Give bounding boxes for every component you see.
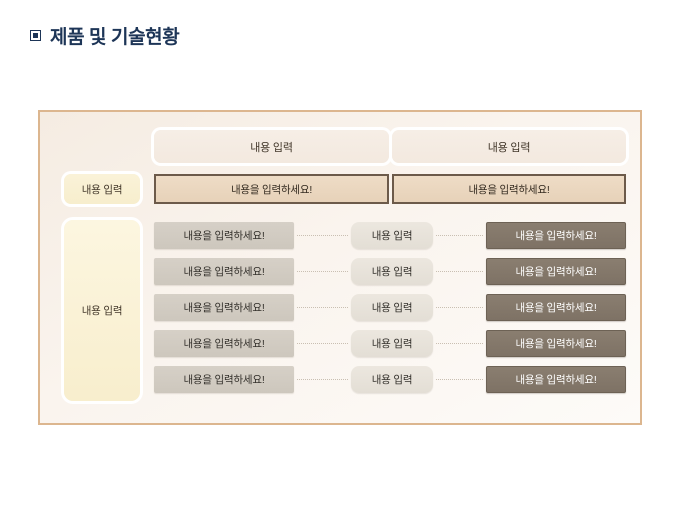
matrix-cell-col2[interactable]: 내용 입력 (351, 366, 433, 393)
matrix-row: 내용을 입력하세요! 내용 입력 내용을 입력하세요! (154, 330, 626, 357)
matrix-row: 내용을 입력하세요! 내용 입력 내용을 입력하세요! (154, 294, 626, 321)
matrix-cell-col2[interactable]: 내용 입력 (351, 222, 433, 249)
matrix-cell-col1[interactable]: 내용을 입력하세요! (154, 222, 294, 249)
matrix-cell-col3[interactable]: 내용을 입력하세요! (486, 258, 626, 285)
filled-square-bullet-icon (30, 30, 41, 41)
connector-line-2 (436, 235, 483, 236)
connector-line-1 (297, 307, 348, 308)
emphasis-box-right[interactable]: 내용을 입력하세요! (392, 174, 626, 204)
side-category-label[interactable]: 내용 입력 (64, 220, 140, 401)
matrix-cell-col1[interactable]: 내용을 입력하세요! (154, 294, 294, 321)
matrix-cell-col1[interactable]: 내용을 입력하세요! (154, 330, 294, 357)
connector-line-1 (297, 235, 348, 236)
matrix-cell-col2[interactable]: 내용 입력 (351, 330, 433, 357)
connector-line-1 (297, 379, 348, 380)
connector-line-2 (436, 271, 483, 272)
page-title-text: 제품 및 기술현황 (50, 22, 179, 49)
emphasis-row-label[interactable]: 내용 입력 (64, 174, 140, 204)
matrix-cell-col2[interactable]: 내용 입력 (351, 294, 433, 321)
matrix-row: 내용을 입력하세요! 내용 입력 내용을 입력하세요! (154, 222, 626, 249)
connector-line-2 (436, 343, 483, 344)
header-box-left[interactable]: 내용 입력 (154, 130, 389, 163)
diagram-frame: 내용 입력 내용 입력 내용 입력 내용을 입력하세요! 내용을 입력하세요! … (38, 110, 642, 425)
matrix-cell-col3[interactable]: 내용을 입력하세요! (486, 222, 626, 249)
matrix-cell-col1[interactable]: 내용을 입력하세요! (154, 366, 294, 393)
matrix-row: 내용을 입력하세요! 내용 입력 내용을 입력하세요! (154, 258, 626, 285)
page-title: 제품 및 기술현황 (30, 22, 179, 49)
matrix-cell-col3[interactable]: 내용을 입력하세요! (486, 366, 626, 393)
emphasis-box-left[interactable]: 내용을 입력하세요! (154, 174, 389, 204)
matrix-cell-col3[interactable]: 내용을 입력하세요! (486, 330, 626, 357)
connector-line-1 (297, 271, 348, 272)
connector-line-1 (297, 343, 348, 344)
connector-line-2 (436, 307, 483, 308)
matrix-cell-col2[interactable]: 내용 입력 (351, 258, 433, 285)
matrix-cell-col1[interactable]: 내용을 입력하세요! (154, 258, 294, 285)
connector-line-2 (436, 379, 483, 380)
matrix-cell-col3[interactable]: 내용을 입력하세요! (486, 294, 626, 321)
matrix-row: 내용을 입력하세요! 내용 입력 내용을 입력하세요! (154, 366, 626, 393)
header-box-right[interactable]: 내용 입력 (392, 130, 626, 163)
